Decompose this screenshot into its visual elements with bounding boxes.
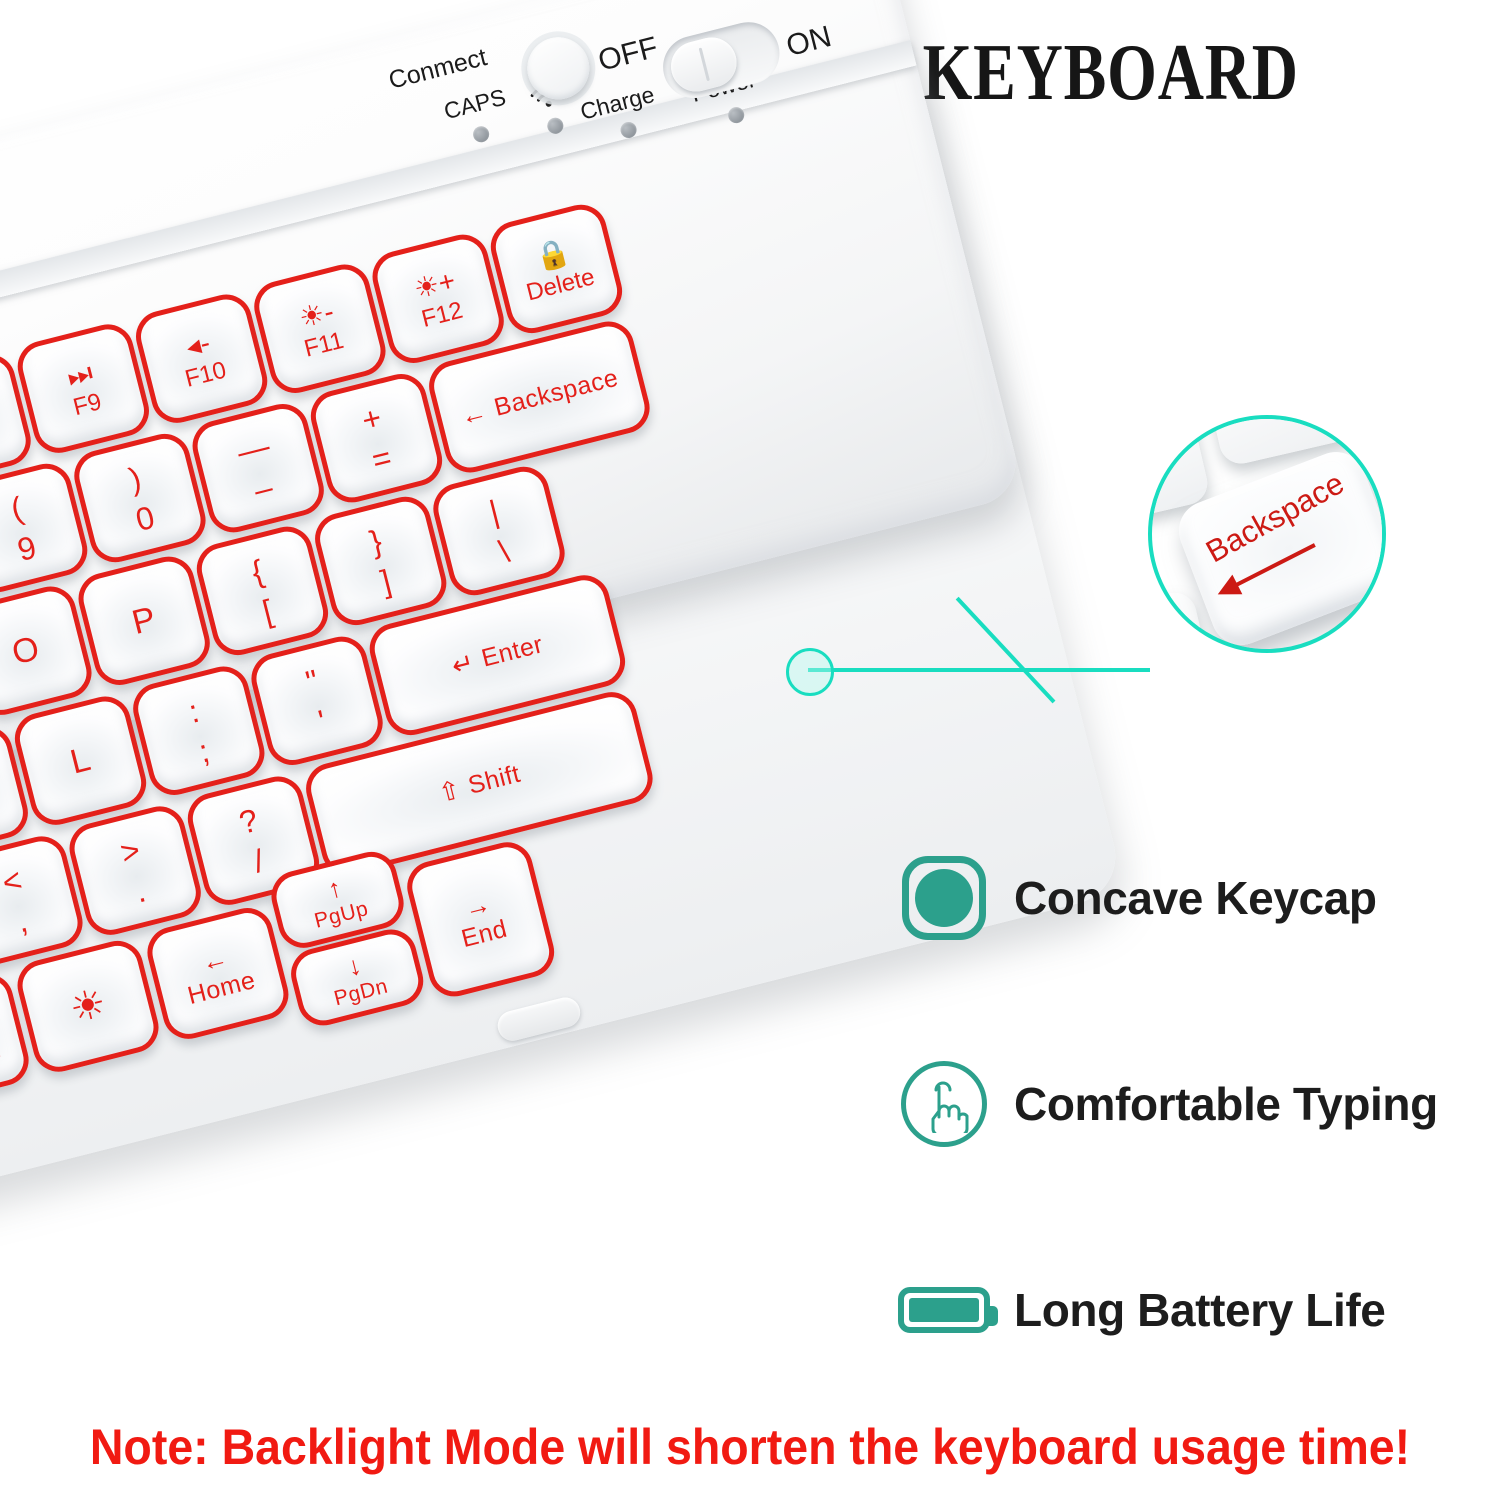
key-legend: PgDn — [332, 975, 390, 1009]
key-legend-lower: ] — [378, 564, 394, 597]
key-legend-upper: + — [358, 401, 384, 437]
feature-list: Concave Keycap Comfortable Typing Long B… — [896, 838, 1456, 1456]
key-legend-lower: [ — [259, 594, 275, 627]
key-legend-upper: ? — [236, 803, 261, 838]
enter-arrow-icon: ↵ — [449, 649, 477, 680]
callout-neighbor-key — [1202, 415, 1386, 468]
key-legend-upper: > — [117, 833, 143, 869]
feature-item-concave-keycap: Concave Keycap — [896, 838, 1456, 958]
key-legend: Shift — [466, 761, 523, 798]
next-track-icon: ⏭ — [64, 358, 95, 391]
up-arrow-icon: ↑ — [325, 874, 344, 902]
key-legend-lower: 0 — [132, 500, 157, 535]
charge-label: Charge — [578, 81, 658, 126]
charge-led — [619, 120, 638, 139]
callout-leader-line — [808, 668, 1150, 672]
key-legend-upper: — — [234, 429, 273, 468]
key-legend: P — [129, 601, 160, 640]
key-legend: PgUp — [312, 898, 370, 932]
key-legend-lower: 9 — [14, 530, 39, 565]
key-legend: Home — [185, 967, 258, 1008]
feature-item-comfortable-typing: Comfortable Typing — [896, 1044, 1456, 1164]
backspace-key-callout: Backspace — [1148, 415, 1386, 653]
key-legend: L — [67, 742, 94, 780]
feature-label: Comfortable Typing — [1014, 1077, 1438, 1131]
key-legend-lower: – — [251, 470, 276, 505]
key-legend-upper: " — [303, 664, 322, 698]
key-legend-lower: / — [250, 844, 266, 877]
left-arrow-icon: ← — [458, 398, 490, 430]
key-legend: End — [459, 916, 510, 952]
key-legend-upper: < — [0, 863, 25, 899]
key-legend: F10 — [183, 358, 229, 391]
key-legend-lower: Option — [0, 1034, 3, 1078]
key-legend-upper: { — [248, 554, 266, 588]
battery-icon — [896, 1287, 992, 1333]
connect-label: Conmect — [386, 43, 490, 96]
key-legend-upper: : — [186, 694, 202, 727]
backlight-warning-note: Note: Backlight Mode will shorten the ke… — [53, 1418, 1448, 1476]
concave-keycap-icon — [896, 856, 992, 940]
shift-up-arrow-icon: ⇧ — [436, 776, 464, 807]
key-legend-lower: ' — [315, 704, 329, 737]
feature-label: Long Battery Life — [1014, 1283, 1385, 1337]
feature-item-long-battery-life: Long Battery Life — [896, 1250, 1456, 1370]
key-legend-upper: } — [367, 524, 385, 558]
key-legend-lower: . — [132, 874, 148, 907]
key-legend: Delete — [524, 265, 597, 305]
on-label: ON — [783, 20, 835, 64]
down-arrow-icon: ↓ — [345, 951, 364, 979]
key-legend: F9 — [71, 390, 104, 420]
key-legend-lower: = — [369, 440, 395, 476]
touch-finger-icon — [896, 1061, 992, 1147]
right-arrow-icon: → — [461, 890, 493, 922]
bluetooth-led — [546, 116, 565, 135]
key-legend: F11 — [302, 328, 346, 361]
key-legend-upper: | — [486, 495, 502, 528]
caps-led — [471, 125, 490, 144]
key-legend: O — [9, 631, 43, 671]
lock-icon: 🔒 — [533, 237, 574, 273]
key-legend-upper: ( — [8, 491, 26, 525]
caps-label: CAPS — [441, 84, 508, 126]
key-legend-lower: , — [14, 904, 30, 937]
key-legend: Enter — [479, 632, 545, 672]
off-label: OFF — [595, 31, 662, 79]
callout-anchor-point — [786, 648, 834, 696]
key-legend-upper: ) — [126, 461, 144, 495]
key-legend-lower: \ — [496, 534, 512, 567]
volume-down-icon: ◂- — [183, 328, 213, 361]
key-legend: Backspace — [492, 365, 621, 420]
feature-label: Concave Keycap — [1014, 871, 1377, 925]
left-arrow-icon: ← — [199, 944, 231, 976]
brightness-down-icon: ☀- — [296, 297, 336, 333]
key-legend-lower: ; — [196, 734, 212, 767]
backlight-sun-icon: ☀ — [66, 983, 111, 1031]
key-legend: F12 — [419, 298, 465, 331]
